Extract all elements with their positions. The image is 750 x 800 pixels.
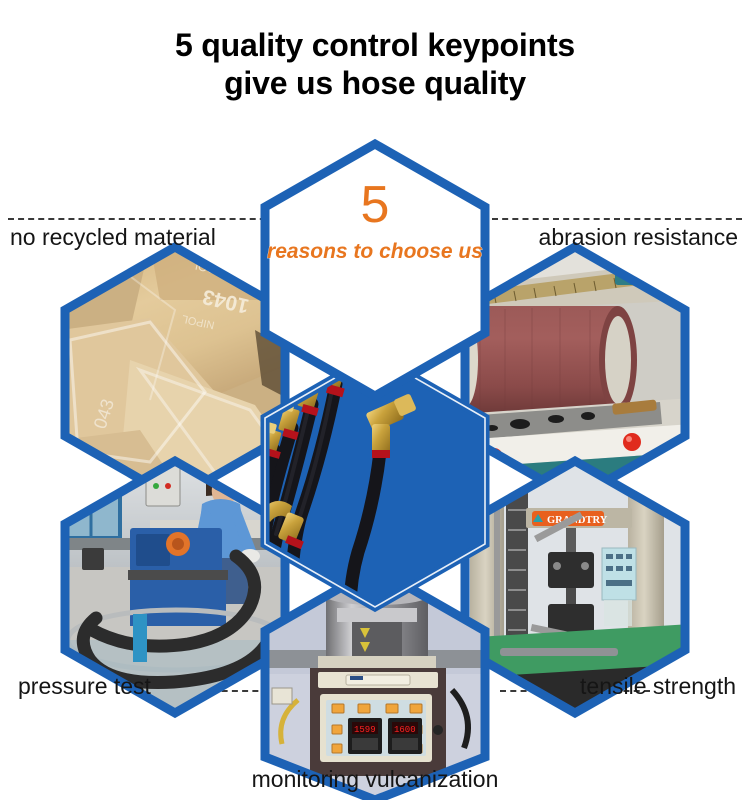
- label-tensile-strength: tensile strength: [580, 673, 736, 700]
- label-monitoring-vulcanization: monitoring vulcanization: [0, 766, 750, 793]
- rheometer-display-left: 1599: [354, 725, 376, 735]
- center-caption: reasons to choose us: [267, 240, 483, 263]
- hexagon-center-callout[interactable]: 5 reasons to choose us: [265, 144, 485, 396]
- label-no-recycled-material: no recycled material: [10, 224, 216, 251]
- label-pressure-test: pressure test: [18, 673, 151, 700]
- center-number: 5: [361, 176, 390, 234]
- red-knob-right: [623, 433, 641, 451]
- infographic-canvas: 5 quality control keypoints give us hose…: [0, 0, 750, 800]
- label-abrasion-resistance: abrasion resistance: [539, 224, 738, 251]
- rheometer-display-right: 1600: [394, 725, 416, 735]
